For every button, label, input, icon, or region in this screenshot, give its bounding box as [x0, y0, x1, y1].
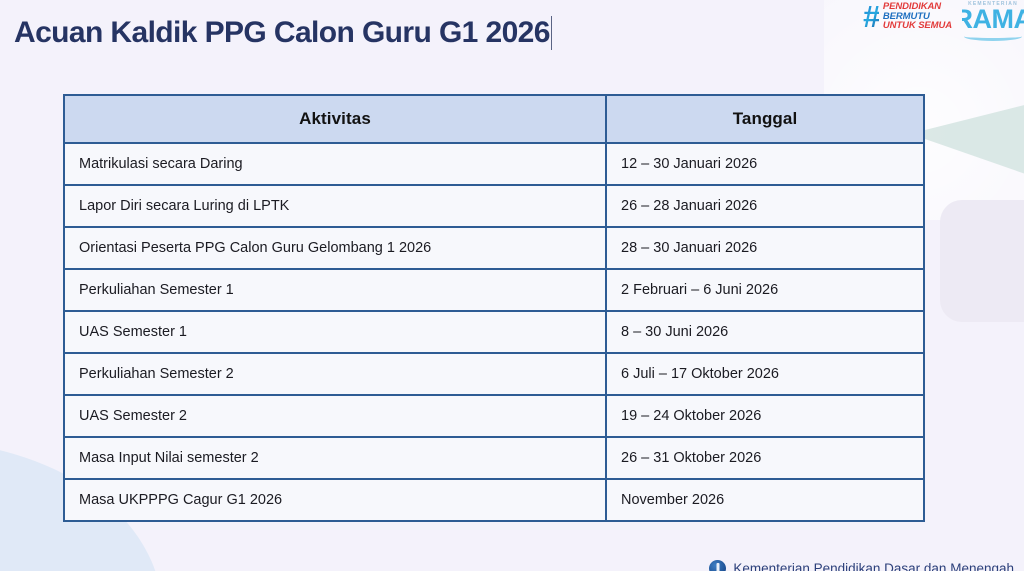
- table-row: Perkuliahan Semester 12 Februari – 6 Jun…: [64, 269, 924, 311]
- cell-date: 2 Februari – 6 Juni 2026: [606, 269, 924, 311]
- column-header-tanggal: Tanggal: [606, 95, 924, 143]
- text-cursor-caret: [551, 16, 553, 50]
- table-header: Aktivitas Tanggal: [64, 95, 924, 143]
- table-row: UAS Semester 219 – 24 Oktober 2026: [64, 395, 924, 437]
- hashtag-icon: #: [863, 2, 879, 31]
- bermutu-line-3: UNTUK SEMUA: [883, 21, 952, 31]
- logo-cluster: # PENDIDIKAN BERMUTU UNTUK SEMUA KEMENTE…: [863, 0, 1024, 46]
- cell-activity: Masa UKPPPG Cagur G1 2026: [64, 479, 606, 521]
- cell-activity: Orientasi Peserta PPG Calon Guru Gelomba…: [64, 227, 606, 269]
- cell-activity: UAS Semester 1: [64, 311, 606, 353]
- cell-activity: Lapor Diri secara Luring di LPTK: [64, 185, 606, 227]
- rounded-rectangle-shape: [940, 200, 1024, 322]
- table-row: Orientasi Peserta PPG Calon Guru Gelomba…: [64, 227, 924, 269]
- table-body: Matrikulasi secara Daring12 – 30 Januari…: [64, 143, 924, 521]
- column-header-aktivitas: Aktivitas: [64, 95, 606, 143]
- rama-swoosh-icon: [964, 32, 1022, 41]
- footer-ministry-brand: Kementerian Pendidikan Dasar dan Menenga…: [709, 560, 1014, 571]
- ministry-seal-icon: [709, 560, 726, 571]
- cell-activity: Matrikulasi secara Daring: [64, 143, 606, 185]
- schedule-table-container: Aktivitas Tanggal Matrikulasi secara Dar…: [63, 94, 923, 522]
- teal-triangle-shape: [910, 96, 1024, 186]
- cell-activity: Perkuliahan Semester 1: [64, 269, 606, 311]
- ministry-name-label: Kementerian Pendidikan Dasar dan Menenga…: [733, 561, 1014, 571]
- table-row: Lapor Diri secara Luring di LPTK26 – 28 …: [64, 185, 924, 227]
- bermutu-wordmark: PENDIDIKAN BERMUTU UNTUK SEMUA: [883, 2, 952, 31]
- cell-date: 26 – 31 Oktober 2026: [606, 437, 924, 479]
- page-title[interactable]: Acuan Kaldik PPG Calon Guru G1 2026: [14, 16, 550, 50]
- cell-activity: Perkuliahan Semester 2: [64, 353, 606, 395]
- cell-date: 12 – 30 Januari 2026: [606, 143, 924, 185]
- rama-wordmark: RAMA: [962, 7, 1024, 33]
- page-title-container[interactable]: Acuan Kaldik PPG Calon Guru G1 2026: [14, 16, 552, 50]
- table-row: Perkuliahan Semester 26 Juli – 17 Oktobe…: [64, 353, 924, 395]
- table-row: Masa Input Nilai semester 226 – 31 Oktob…: [64, 437, 924, 479]
- cell-date: 6 Juli – 17 Oktober 2026: [606, 353, 924, 395]
- cell-date: 26 – 28 Januari 2026: [606, 185, 924, 227]
- cell-date: 28 – 30 Januari 2026: [606, 227, 924, 269]
- cell-activity: UAS Semester 2: [64, 395, 606, 437]
- table-header-row: Aktivitas Tanggal: [64, 95, 924, 143]
- table-row: Masa UKPPPG Cagur G1 2026November 2026: [64, 479, 924, 521]
- pendidikan-bermutu-logo: # PENDIDIKAN BERMUTU UNTUK SEMUA: [863, 0, 952, 31]
- kaldik-schedule-table: Aktivitas Tanggal Matrikulasi secara Dar…: [63, 94, 925, 522]
- cell-activity: Masa Input Nilai semester 2: [64, 437, 606, 479]
- table-row: Matrikulasi secara Daring12 – 30 Januari…: [64, 143, 924, 185]
- rama-logo: KEMENTERIAN RAMA: [962, 0, 1024, 41]
- cell-date: November 2026: [606, 479, 924, 521]
- cell-date: 8 – 30 Juni 2026: [606, 311, 924, 353]
- cell-date: 19 – 24 Oktober 2026: [606, 395, 924, 437]
- table-row: UAS Semester 18 – 30 Juni 2026: [64, 311, 924, 353]
